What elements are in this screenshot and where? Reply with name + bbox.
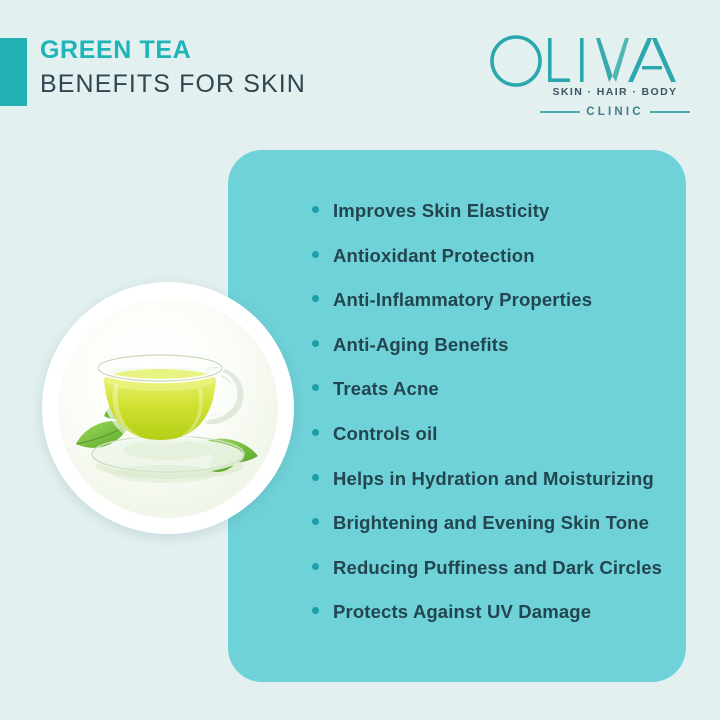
logo-clinic-row: CLINIC [540, 104, 690, 120]
logo-rule-right [650, 111, 690, 113]
benefit-list-item: Protects Against UV Damage [312, 601, 670, 646]
benefit-list-item: Reducing Puffiness and Dark Circles [312, 557, 670, 602]
benefit-label: Improves Skin Elasticity [333, 200, 549, 222]
benefit-list-item: Treats Acne [312, 378, 670, 423]
benefit-list-item: Anti-Inflammatory Properties [312, 289, 670, 334]
header-accent-bar [0, 38, 27, 106]
oliva-logo: SKIN · HAIR · BODY CLINIC [488, 34, 688, 128]
bullet-dot-icon [312, 384, 319, 391]
bullet-dot-icon [312, 563, 319, 570]
bullet-dot-icon [312, 474, 319, 481]
green-tea-cup-photo [58, 298, 278, 518]
logo-rule-left [540, 111, 580, 113]
benefit-list-item: Helps in Hydration and Moisturizing [312, 468, 670, 513]
bullet-dot-icon [312, 607, 319, 614]
benefit-list-item: Controls oil [312, 423, 670, 468]
benefit-list-item: Anti-Aging Benefits [312, 334, 670, 379]
benefits-panel: Improves Skin ElasticityAntioxidant Prot… [228, 150, 686, 682]
benefits-list: Improves Skin ElasticityAntioxidant Prot… [312, 200, 670, 646]
benefit-label: Brightening and Evening Skin Tone [333, 512, 649, 534]
bullet-dot-icon [312, 206, 319, 213]
header: GREEN TEA BENEFITS FOR SKIN [40, 36, 460, 98]
benefit-label: Antioxidant Protection [333, 245, 535, 267]
benefit-label: Helps in Hydration and Moisturizing [333, 468, 654, 490]
benefit-list-item: Improves Skin Elasticity [312, 200, 670, 245]
bullet-dot-icon [312, 518, 319, 525]
page-subtitle: BENEFITS FOR SKIN [40, 70, 460, 98]
benefit-label: Reducing Puffiness and Dark Circles [333, 557, 662, 579]
logo-clinic-label: CLINIC [586, 106, 644, 118]
green-tea-benefits-infographic: GREEN TEA BENEFITS FOR SKIN SKIN · HAIR … [0, 0, 720, 720]
benefit-list-item: Brightening and Evening Skin Tone [312, 512, 670, 557]
bullet-dot-icon [312, 251, 319, 258]
benefit-label: Anti-Aging Benefits [333, 334, 509, 356]
bullet-dot-icon [312, 340, 319, 347]
page-title: GREEN TEA [40, 36, 460, 64]
tea-cup-illustration-icon [58, 298, 278, 518]
benefit-label: Controls oil [333, 423, 438, 445]
benefit-label: Treats Acne [333, 378, 439, 400]
bullet-dot-icon [312, 295, 319, 302]
benefit-list-item: Antioxidant Protection [312, 245, 670, 290]
logo-tagline: SKIN · HAIR · BODY [544, 86, 686, 98]
bullet-dot-icon [312, 429, 319, 436]
benefit-label: Protects Against UV Damage [333, 601, 591, 623]
benefit-label: Anti-Inflammatory Properties [333, 289, 592, 311]
tea-image-frame [42, 282, 294, 534]
